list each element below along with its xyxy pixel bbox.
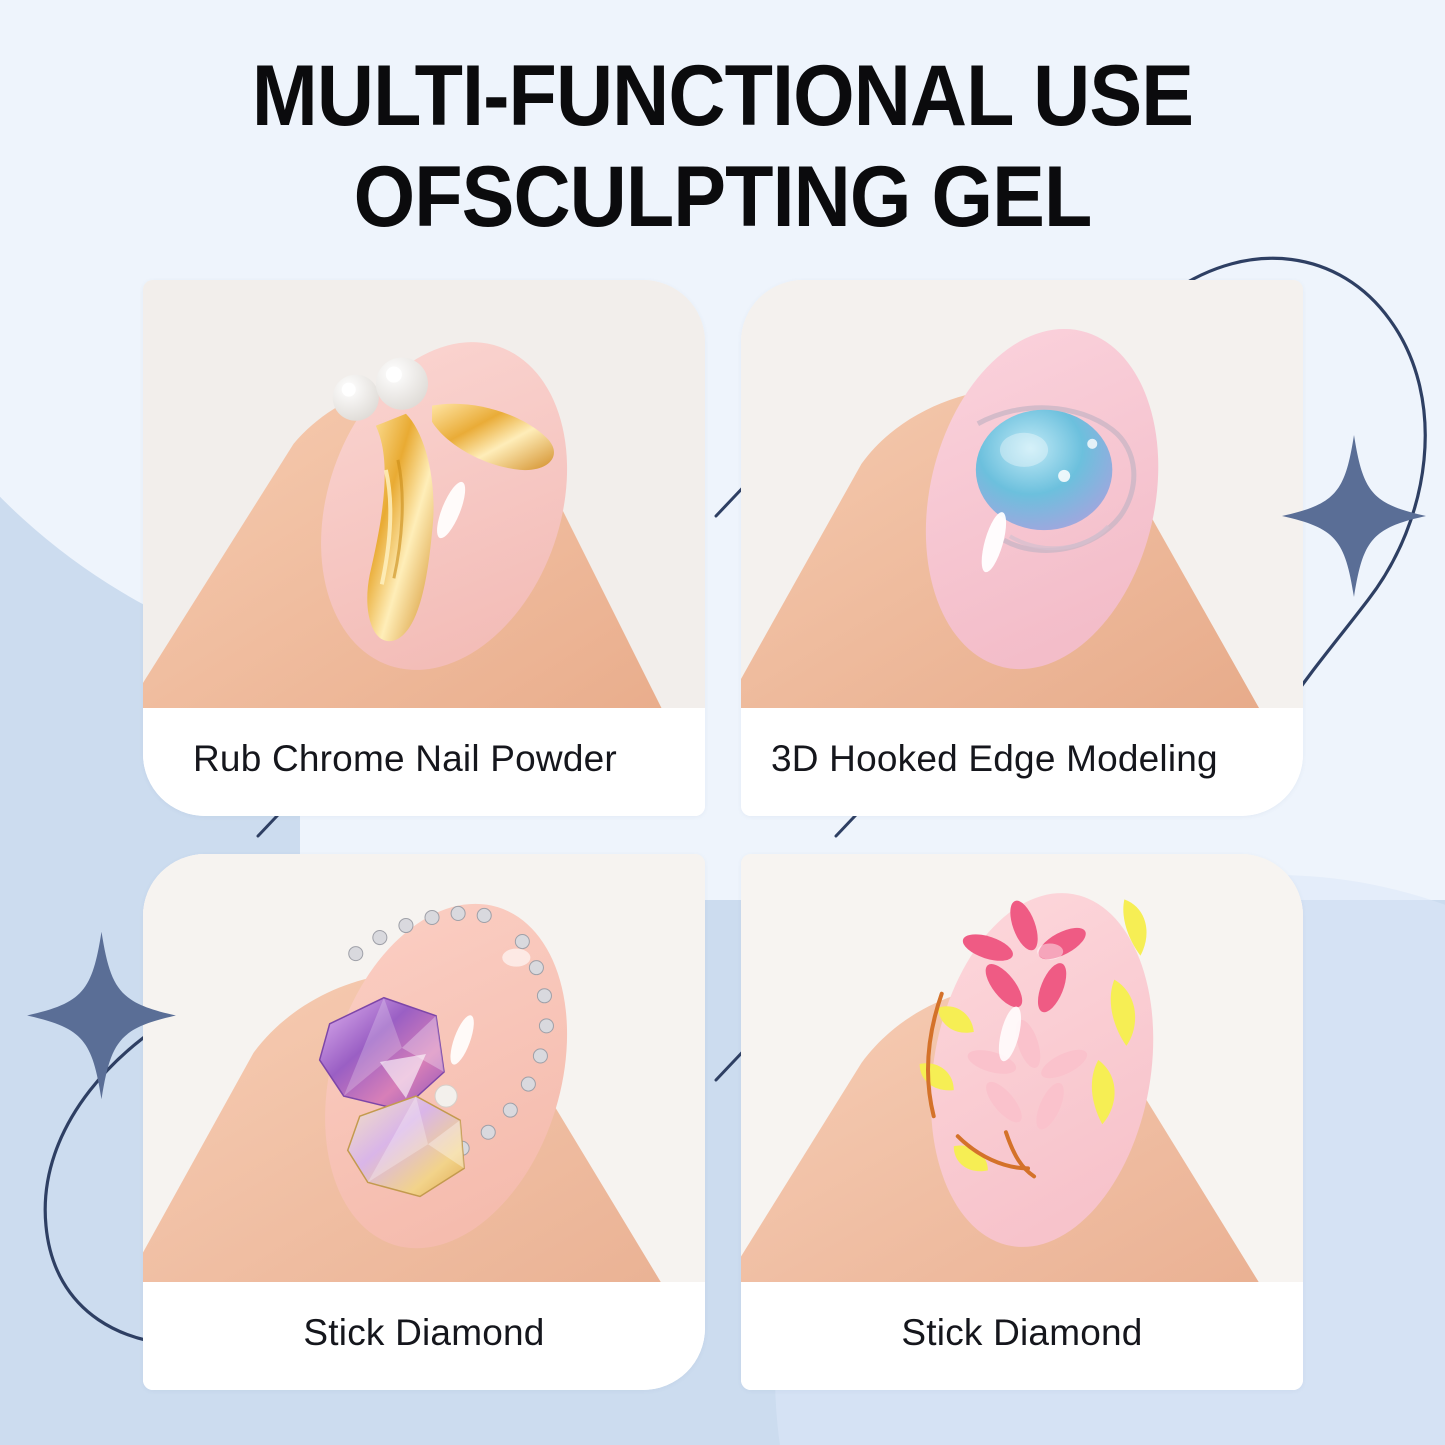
feature-card-stick-diamond-crystals[interactable]: Stick Diamond: [143, 854, 705, 1390]
feature-card-rub-chrome-nail-powder[interactable]: Rub Chrome Nail Powder: [143, 280, 705, 816]
card-caption: Stick Diamond: [143, 1282, 705, 1390]
nail-photo-blue-cabochon: [741, 280, 1303, 708]
feature-card-grid: Rub Chrome Nail Powder: [143, 280, 1303, 1390]
card-caption: Stick Diamond: [741, 1282, 1303, 1390]
nail-photo-purple-amber-crystals: [143, 854, 705, 1282]
page-title: MULTI-FUNCTIONAL USE OFSCULPTING GEL: [0, 46, 1445, 249]
card-caption: Rub Chrome Nail Powder: [143, 708, 705, 816]
title-line-1: MULTI-FUNCTIONAL USE: [58, 46, 1387, 147]
feature-card-3d-hooked-edge-modeling[interactable]: 3D Hooked Edge Modeling: [741, 280, 1303, 816]
title-line-2: OFSCULPTING GEL: [58, 147, 1387, 248]
nail-photo-pink-flower-petals: [741, 854, 1303, 1282]
nail-photo-gold-chrome-pearls: [143, 280, 705, 708]
card-caption: 3D Hooked Edge Modeling: [741, 708, 1303, 816]
feature-card-stick-diamond-flowers[interactable]: Stick Diamond: [741, 854, 1303, 1390]
